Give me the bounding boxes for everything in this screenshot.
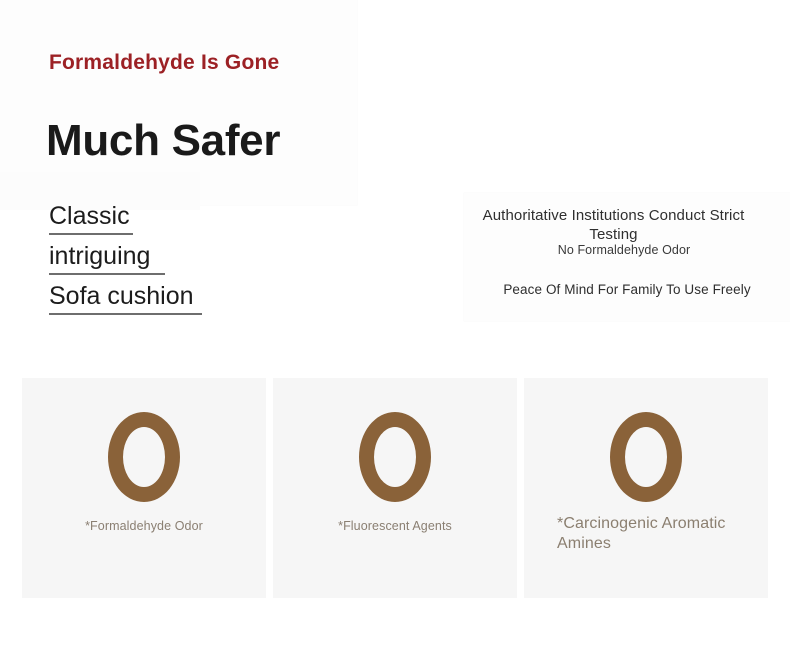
zero-card-aromatic-amines: *Carcinogenic Aromatic Amines: [524, 378, 768, 598]
claims-heading: Authoritative Institutions Conduct Stric…: [464, 206, 763, 244]
tagline-line-3: Sofa cushion: [49, 281, 202, 315]
zero-card-label: *Formaldehyde Odor: [85, 518, 203, 534]
tagline-text-1: Classic: [49, 201, 202, 231]
zero-ring-icon: [108, 412, 180, 502]
tagline-rule-2: [49, 273, 165, 275]
hero-kicker: Formaldehyde Is Gone: [49, 51, 279, 75]
zero-claim-cards: *Formaldehyde Odor *Fluorescent Agents *…: [22, 378, 768, 598]
claims-footer: Peace Of Mind For Family To Use Freely: [464, 282, 790, 297]
tagline-rule-3: [49, 313, 202, 315]
background-panel-bottom: [8, 612, 790, 642]
background-panel-top-left: [0, 0, 357, 205]
zero-ring-icon: [610, 412, 682, 502]
tagline-rule-1: [49, 233, 133, 235]
tagline-text-2: intriguing: [49, 241, 202, 271]
claims-block: Authoritative Institutions Conduct Stric…: [464, 193, 790, 321]
tagline-line-2: intriguing: [49, 241, 202, 275]
zero-ring-icon: [359, 412, 431, 502]
zero-card-label: *Carcinogenic Aromatic Amines: [557, 514, 735, 554]
product-tagline-block: Classic intriguing Sofa cushion: [49, 201, 202, 321]
promo-banner: Formaldehyde Is Gone Much Safer Classic …: [0, 0, 790, 661]
zero-card-formaldehyde: *Formaldehyde Odor: [22, 378, 266, 598]
zero-card-label: *Fluorescent Agents: [338, 518, 452, 534]
tagline-text-3: Sofa cushion: [49, 281, 202, 311]
zero-card-fluorescent: *Fluorescent Agents: [273, 378, 517, 598]
claims-subtext: No Formaldehyde Odor: [464, 243, 784, 257]
tagline-line-1: Classic: [49, 201, 202, 235]
hero-title: Much Safer: [46, 116, 280, 166]
